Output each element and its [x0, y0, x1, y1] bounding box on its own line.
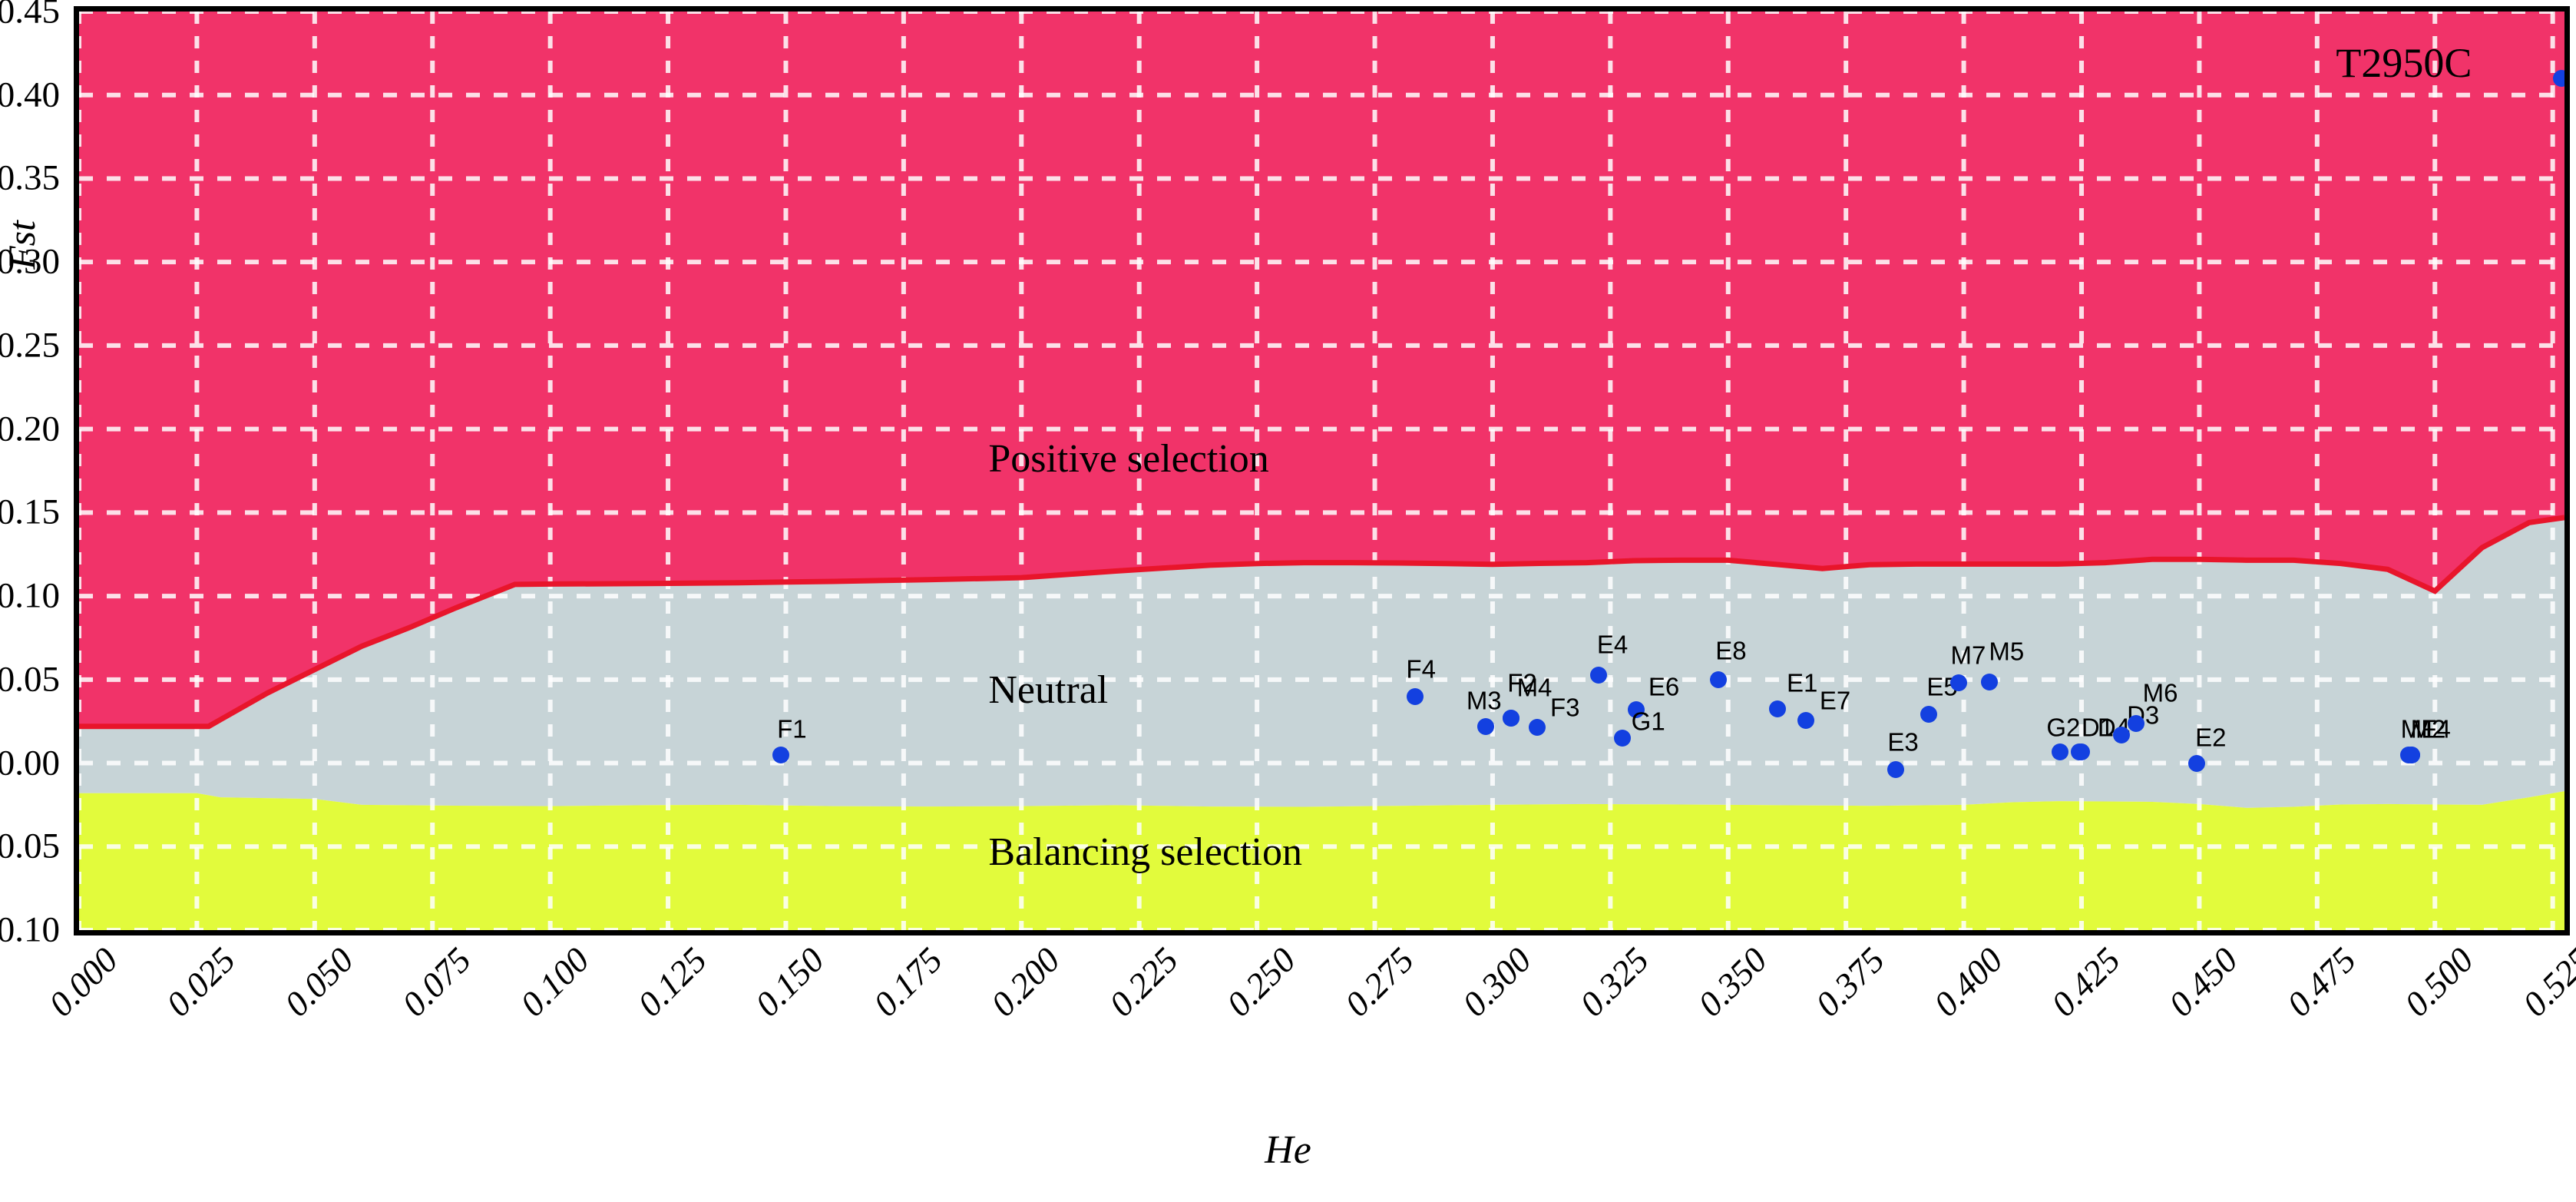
data-point[interactable]	[1477, 718, 1494, 735]
data-point-label: E7	[1820, 688, 1850, 714]
region-label-positive-selection: Positive selection	[988, 439, 1268, 479]
data-point-label: E6	[1648, 674, 1679, 699]
data-point[interactable]	[1950, 674, 1967, 691]
x-tick-label: 0.000	[43, 942, 124, 1023]
data-point[interactable]	[2403, 747, 2420, 763]
data-point[interactable]	[1614, 730, 1631, 747]
x-axis-title: He	[0, 1127, 2576, 1173]
data-point[interactable]	[1503, 710, 1519, 727]
y-tick-label: 0.45	[0, 0, 60, 30]
x-tick-label: 0.300	[1457, 942, 1538, 1023]
y-tick-label: 0.40	[0, 77, 60, 113]
x-tick-label: 0.250	[1221, 942, 1302, 1023]
x-tick-label: 0.525	[2516, 942, 2576, 1023]
x-tick-label: 0.150	[749, 942, 831, 1023]
data-point-label: F4	[1406, 656, 1436, 681]
plot-area: Positive selectionNeutralBalancing selec…	[74, 6, 2570, 935]
data-point[interactable]	[1887, 761, 1904, 778]
data-point-label: M4	[1517, 674, 1553, 700]
x-tick-label: 0.450	[2163, 942, 2244, 1023]
y-tick-label: 0.25	[0, 327, 60, 363]
x-tick-label: 0.175	[868, 942, 949, 1023]
y-tick-label: 0.00	[0, 745, 60, 781]
data-point-label: E8	[1715, 637, 1746, 663]
data-point-label: F3	[1550, 694, 1580, 720]
x-tick-label: 0.400	[1927, 942, 2009, 1023]
data-point[interactable]	[2553, 70, 2570, 87]
data-point-label: M7	[1951, 643, 1986, 668]
x-tick-label: 0.075	[396, 942, 478, 1023]
x-tick-label: 0.225	[1103, 942, 1185, 1023]
data-point[interactable]	[1920, 706, 1937, 723]
x-tick-label: 0.475	[2281, 942, 2363, 1023]
data-point-label: F4	[2421, 717, 2451, 742]
data-point-label: E1	[1787, 670, 1817, 695]
y-tick-label: 0.15	[0, 495, 60, 531]
x-tick-label: 0.025	[160, 942, 242, 1023]
y-tick-label: 0.05	[0, 661, 60, 697]
x-tick-label: 0.275	[1338, 942, 1420, 1023]
plot-overlays: Positive selectionNeutralBalancing selec…	[79, 12, 2564, 930]
y-tick-label: 0.35	[0, 161, 60, 197]
data-point[interactable]	[1590, 667, 1607, 684]
x-tick-label: 0.425	[2045, 942, 2127, 1023]
y-tick-label: −0.05	[0, 829, 60, 865]
region-label-balancing-selection: Balancing selection	[988, 833, 1302, 873]
chart-annotation-label: T2950C	[2336, 42, 2472, 84]
data-point-label: G1	[1632, 708, 1665, 733]
x-tick-label: 0.375	[1810, 942, 1891, 1023]
data-point[interactable]	[2128, 715, 2144, 732]
x-tick-label: 0.125	[632, 942, 713, 1023]
y-tick-label: 0.10	[0, 578, 60, 614]
x-tick-label: 0.200	[985, 942, 1066, 1023]
y-tick-label: 0.20	[0, 411, 60, 447]
data-point[interactable]	[772, 747, 789, 763]
data-point[interactable]	[1710, 671, 1727, 688]
data-point[interactable]	[2052, 743, 2068, 760]
data-point-label: F1	[777, 716, 807, 741]
data-point[interactable]	[1769, 700, 1786, 717]
data-point[interactable]	[1981, 674, 1998, 690]
data-point[interactable]	[1407, 688, 1424, 705]
data-point[interactable]	[1797, 712, 1814, 729]
data-point-label: E2	[2195, 724, 2226, 750]
data-point[interactable]	[2188, 755, 2205, 772]
data-point[interactable]	[2073, 743, 2090, 760]
region-label-neutral: Neutral	[988, 671, 1108, 710]
data-point-label: G2	[2046, 715, 2080, 740]
x-axis-tick-labels: 0.0000.0250.0500.0750.1000.1250.1500.175…	[0, 942, 2576, 1095]
x-tick-label: 0.325	[1574, 942, 1655, 1023]
y-axis-title: Fst	[0, 199, 44, 291]
data-point-label: M6	[2143, 680, 2178, 705]
chart-root: 0.450.400.350.300.250.200.150.100.050.00…	[0, 0, 2576, 1202]
x-tick-label: 0.500	[2399, 942, 2480, 1023]
x-tick-label: 0.350	[1692, 942, 1774, 1023]
x-tick-label: 0.050	[279, 942, 360, 1023]
y-axis-tick-labels: 0.450.400.350.300.250.200.150.100.050.00…	[0, 0, 74, 942]
data-point-label: M5	[1989, 639, 2024, 664]
data-point-label: E3	[1887, 730, 1918, 755]
data-point[interactable]	[1529, 719, 1546, 736]
data-point-label: E4	[1597, 632, 1628, 657]
data-point-label: M3	[1467, 688, 1502, 714]
x-tick-label: 0.100	[514, 942, 595, 1023]
